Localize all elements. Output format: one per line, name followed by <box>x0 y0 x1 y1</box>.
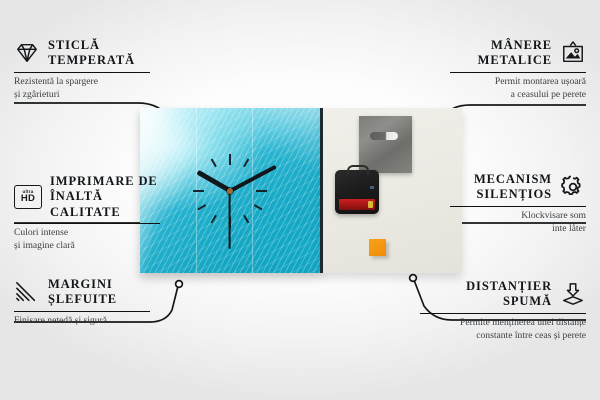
callout-tempered-glass: STICLĂ TEMPERATĂ Rezistentă la spargere … <box>14 38 150 101</box>
gear-icon <box>560 175 586 199</box>
callout-title: MÂNERE METALICE <box>478 38 552 69</box>
clock-glass-panel <box>140 108 323 273</box>
clock-second-hand <box>229 191 231 249</box>
callout-rule <box>14 72 150 74</box>
diamond-icon <box>14 41 40 65</box>
callout-metal-hangers: MÂNERE METALICE Permit montarea ușoară a… <box>450 38 586 101</box>
foam-spacer <box>369 239 386 256</box>
mechanism-battery <box>339 199 375 210</box>
callout-desc: Permite menținerea unei distanțe constan… <box>420 317 586 342</box>
quartz-mechanism <box>335 170 379 214</box>
callout-title: IMPRIMARE DE ÎNALTĂ CALITATE <box>50 174 160 220</box>
foam-spacer-icon <box>560 282 586 306</box>
callout-desc: Culori intense și imagine clară <box>14 227 160 252</box>
callout-desc: Permit montarea ușoară a ceasului pe per… <box>450 76 586 101</box>
clock-face <box>140 108 320 273</box>
callout-title: MARGINI ȘLEFUITE <box>48 277 117 308</box>
callout-rule <box>14 223 160 225</box>
metal-hanger-plate <box>359 116 412 173</box>
hanger-slot <box>370 132 398 140</box>
callout-silent-mechanism: MECANISM SILENȚIOS Klockvisare som inte … <box>450 172 586 235</box>
callout-foam-spacer: DISTANȚIER SPUMĂ Permite menținerea unei… <box>420 279 586 342</box>
picture-frame-hanger-icon <box>560 41 586 65</box>
callout-rule <box>450 72 586 74</box>
callout-title: MECANISM SILENȚIOS <box>474 172 552 203</box>
callout-rule <box>420 313 586 315</box>
clock-hour-hand <box>196 169 231 192</box>
callout-desc: Finisare netedă și sigură <box>14 315 150 328</box>
product-photo <box>140 108 462 273</box>
hardware-panel <box>323 108 462 273</box>
callout-title: STICLĂ TEMPERATĂ <box>48 38 135 69</box>
ultra-hd-icon: ultra HD <box>14 185 42 209</box>
leader-node-edges <box>176 281 183 288</box>
mechanism-hanging-loop <box>347 165 369 175</box>
callout-polished-edges: MARGINI ȘLEFUITE Finisare netedă și sigu… <box>14 277 150 328</box>
clock-hub <box>227 188 233 194</box>
ultra-hd-icon-main-label: HD <box>21 194 35 204</box>
clock-minute-hand <box>229 164 277 192</box>
callout-rule <box>450 206 586 208</box>
infographic-canvas: STICLĂ TEMPERATĂ Rezistentă la spargere … <box>0 0 600 400</box>
leader-node-spacer <box>410 275 417 282</box>
callout-title: DISTANȚIER SPUMĂ <box>466 279 552 310</box>
callout-print-quality: ultra HD IMPRIMARE DE ÎNALTĂ CALITATE Cu… <box>14 174 160 253</box>
callout-rule <box>14 311 150 313</box>
callout-desc: Klockvisare som inte låter <box>450 210 586 235</box>
callout-desc: Rezistentă la spargere și zgârieturi <box>14 76 150 101</box>
polished-edge-icon <box>14 280 40 304</box>
mechanism-label-dot <box>370 186 374 189</box>
